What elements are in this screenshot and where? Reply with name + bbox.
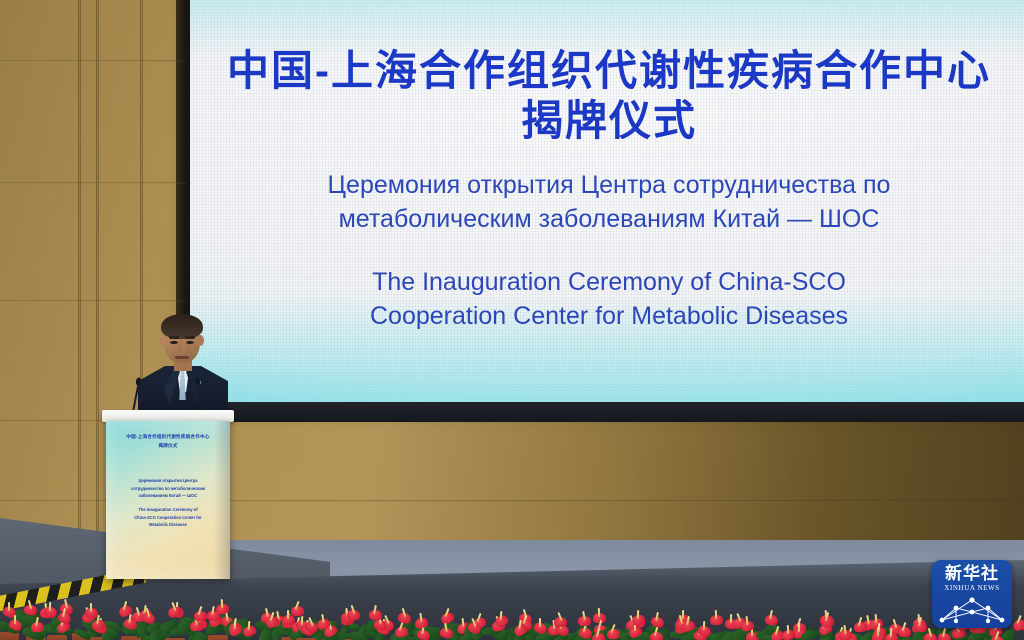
bloom-spadix [49,602,51,611]
speaker-eyebrow-right [185,336,195,339]
bloom-spadix [419,613,422,622]
leaf [801,631,820,640]
slide-russian-line2: метаболическим заболеваниям Китай — ШОС [190,203,1024,237]
podium-russian-line2: сотрудничества по метаболическим [112,485,224,493]
potted-flower [83,609,117,640]
speaker-nose [179,344,185,354]
speaker-eye-right [186,341,194,344]
speaker-figure [132,318,236,422]
slide-chinese-line1: 中国-上海合作组织代谢性疾病合作中心 [227,47,991,94]
speaker-mouth [175,356,189,359]
slide-content: 中国-上海合作组织代谢性疾病合作中心 揭牌仪式 Церемония открыт… [190,0,1024,333]
bloom-spadix [787,625,789,634]
anthurium-bloom [914,621,928,632]
speaker-eye-left [170,341,178,344]
bloom-spadix [539,618,541,627]
podium-russian-text: Церемония открытия Центра сотрудничества… [112,477,224,500]
podium-russian-line3: заболеваниям Китай — ШОС [112,492,224,500]
podium-front-panel: 中国-上海合作组织代谢性疾病合作中心 揭牌仪式 Церемония открыт… [106,421,230,579]
slide-english-title: The Inauguration Ceremony of China-SCO C… [190,265,1024,333]
podium-english-line1: The Inauguration Ceremony of [112,506,224,514]
bloom-spadix [287,610,289,619]
podium-chinese-line1: 中国-上海合作组织代谢性疾病合作中心 [110,433,226,442]
bloom-spadix [876,627,878,636]
screen-lower-bezel [186,402,1024,422]
podium-russian-line1: Церемония открытия Центра [112,477,224,485]
network-graphic-icon [936,594,1008,626]
podium-english-line2: China-SCO Cooperation Center for [112,514,224,522]
flower-arrangement-row [0,566,1024,640]
podium-english-text: The Inauguration Ceremony of China-SCO C… [112,506,224,529]
speaker-ear-right [197,335,204,346]
bloom-spadix [715,610,717,619]
slide-chinese-title: 中国-上海合作组织代谢性疾病合作中心 揭牌仪式 [190,46,1024,145]
speaker-eyebrow-left [169,336,179,339]
slide-russian-title: Церемония открытия Центра сотрудничества… [190,169,1024,237]
podium-english-line3: Metabolic Diseases [112,521,224,529]
photo-scene: 中国-上海合作组织代谢性疾病合作中心 揭牌仪式 Церемония открыт… [0,0,1024,640]
podium-chinese-line2: 揭牌仪式 [110,442,226,451]
xinhua-news-watermark: 新华社 XINHUA NEWS [932,560,1012,628]
podium: 中国-上海合作组织代谢性疾病合作中心 揭牌仪式 Церемония открыт… [106,410,230,580]
bloom-spadix [637,610,639,619]
bloom-spadix [889,628,892,637]
slide-english-line2: Cooperation Center for Metabolic Disease… [190,299,1024,333]
xinhua-logo-chinese: 新华社 [932,565,1012,582]
slide-russian-line1: Церемония открытия Центра сотрудничества… [190,169,1024,203]
slide-chinese-line2: 揭牌仪式 [190,96,1024,146]
bloom-spadix [14,615,16,624]
flower-pot [47,635,67,640]
anthurium-bloom [854,622,868,633]
xinhua-logo-english: XINHUA NEWS [932,584,1012,592]
speaker-ear-left [160,335,167,346]
potted-flower [404,605,438,640]
slide-english-line1: The Inauguration Ceremony of China-SCO [190,265,1024,299]
presentation-screen: 中国-上海合作组织代谢性疾病合作中心 揭牌仪式 Церемония открыт… [190,0,1024,402]
podium-chinese-text: 中国-上海合作组织代谢性疾病合作中心 揭牌仪式 [110,433,226,450]
